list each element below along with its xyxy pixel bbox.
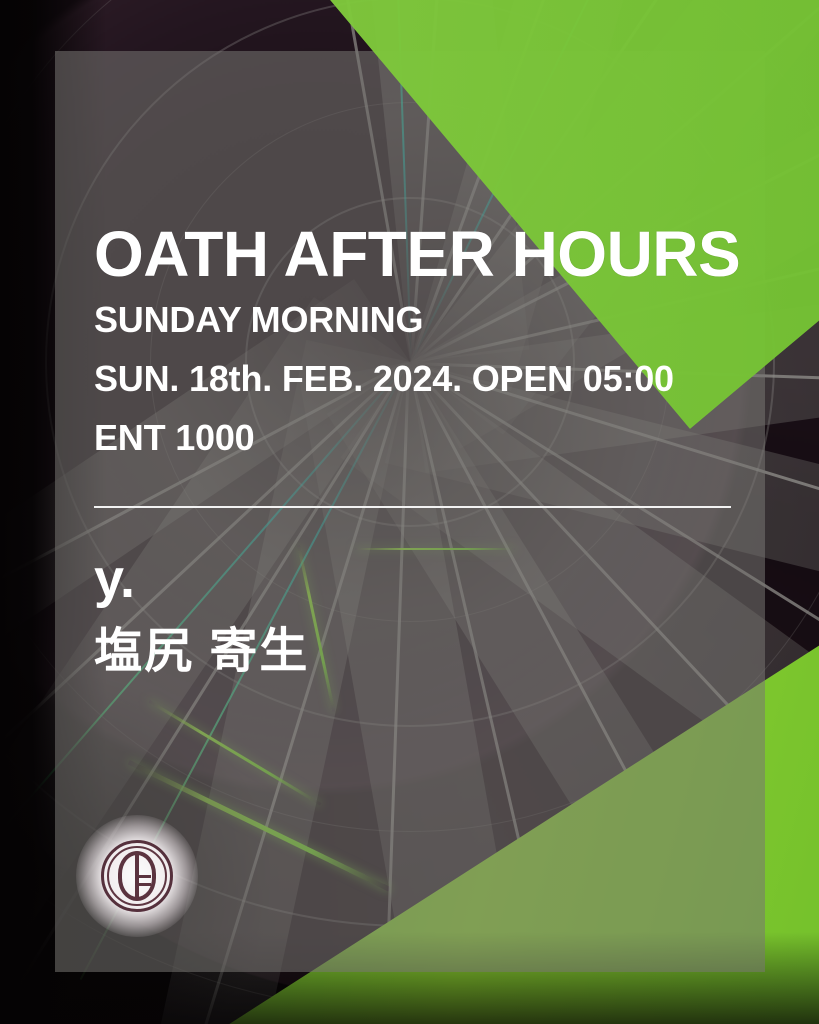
event-entry-price: ENT 1000 [94,420,255,456]
lineup-item-1: y. [94,552,135,606]
logo-tick-icon [138,883,151,886]
oath-logo-badge [92,831,182,921]
logo-tick-icon [138,875,151,878]
event-date-time: SUN. 18th. FEB. 2024. OPEN 05:00 [94,361,674,397]
lineup-item-2: 塩尻 寄生 [94,628,309,676]
event-subtitle: SUNDAY MORNING [94,302,423,338]
page-title: OATH AFTER HOURS [94,222,740,286]
poster-canvas: OATH AFTER HOURS SUNDAY MORNING SUN. 18t… [0,0,819,1024]
section-divider [94,506,731,508]
